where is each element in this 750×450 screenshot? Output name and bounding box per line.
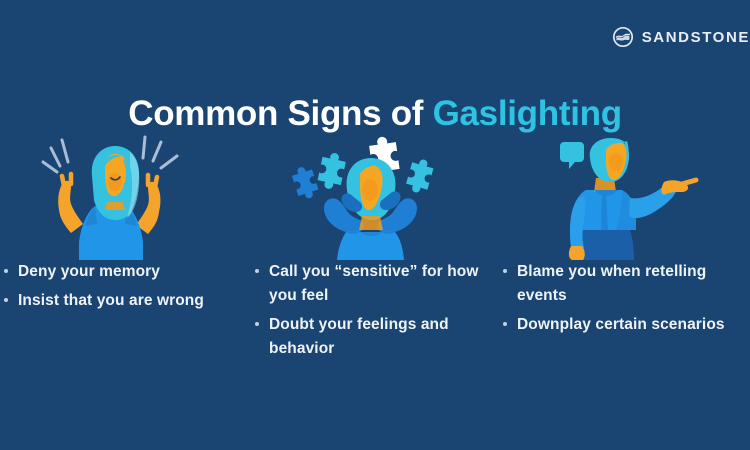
brand-logo[interactable]: SANDSTONE — [612, 26, 750, 48]
brand-name: SANDSTONE — [642, 29, 750, 46]
puzzle-piece-cyan-right — [404, 157, 435, 196]
puzzle-piece-cyan — [316, 151, 347, 192]
sign-column-3: Blame you when retelling events Downplay… — [500, 132, 750, 432]
illustration-person-pointing-finger-accusing — [500, 132, 750, 260]
signs-columns: Deny your memory Insist that you are wro… — [0, 132, 750, 432]
bullet-list-3: Blame you when retelling events Downplay… — [483, 260, 750, 342]
list-item: Call you “sensitive” for how you feel — [255, 260, 505, 308]
list-item: Blame you when retelling events — [503, 260, 750, 308]
page-title-lead: Common Signs of — [128, 94, 432, 133]
speech-bubble-icon — [560, 142, 584, 169]
bullet-list-2: Call you “sensitive” for how you feel Do… — [231, 260, 519, 366]
sandstone-circle-wave-logo-icon — [612, 26, 634, 48]
sign-column-2: Call you “sensitive” for how you feel Do… — [250, 132, 500, 432]
bullet-list-1: Deny your memory Insist that you are wro… — [0, 260, 268, 318]
gaslighting-infographic: SANDSTONE Common Signs of Gaslighting — [0, 0, 750, 450]
page-title: Common Signs of Gaslighting — [0, 95, 750, 134]
list-item: Insist that you are wrong — [4, 289, 254, 313]
list-item: Doubt your feelings and behavior — [255, 313, 505, 361]
list-item: Downplay certain scenarios — [503, 313, 750, 337]
illustration-person-head-in-hands-confused — [250, 132, 500, 260]
illustration-woman-hands-raised-frustrated — [0, 132, 250, 260]
sign-column-1: Deny your memory Insist that you are wro… — [0, 132, 250, 432]
page-title-accent: Gaslighting — [433, 94, 622, 133]
puzzle-piece-blue — [290, 164, 320, 201]
list-item: Deny your memory — [4, 260, 254, 284]
